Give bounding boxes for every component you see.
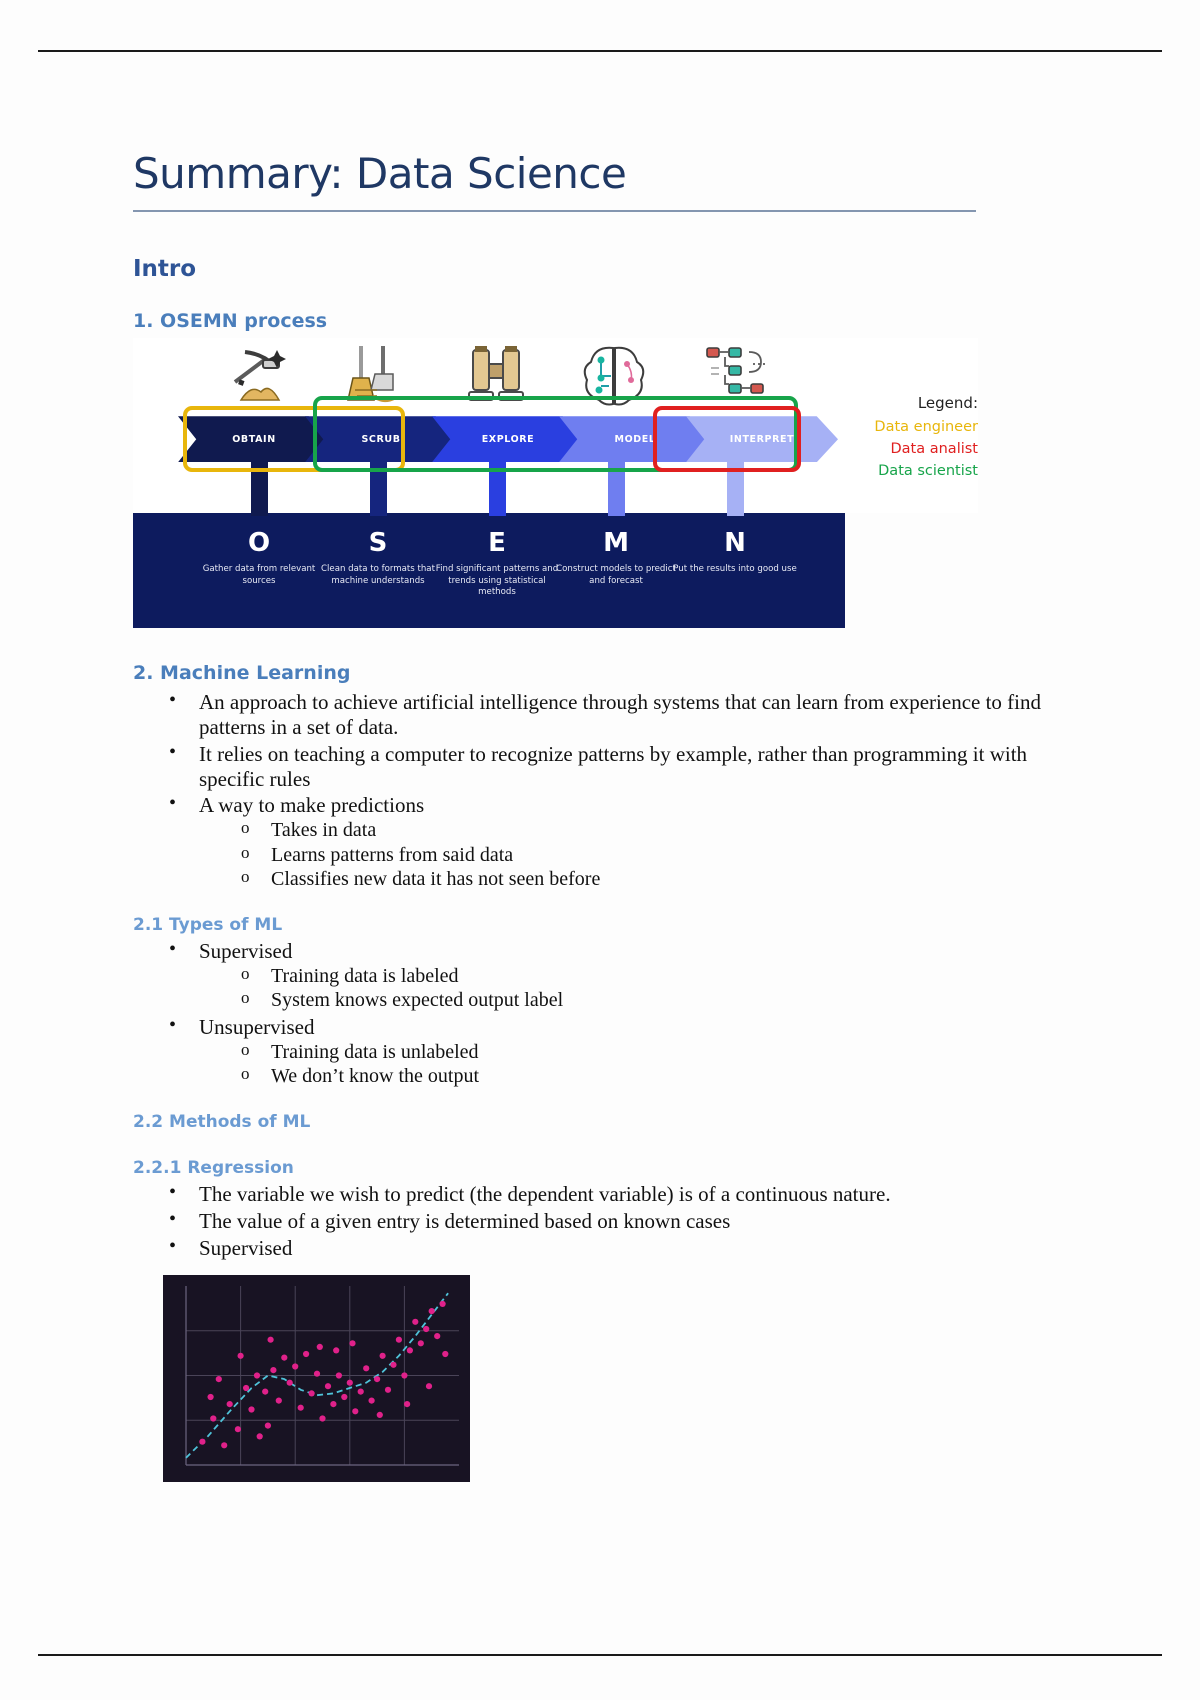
regression-bullets: The variable we wish to predict (the dep…	[133, 1182, 1063, 1260]
document-content: Summary: Data Science Intro 1. OSEMN pro…	[133, 150, 1063, 1482]
bullet-text: Unsupervised	[199, 1015, 314, 1039]
page-title: Summary: Data Science	[133, 150, 1063, 198]
types-of-ml-bullets: Supervised Training data is labeled Syst…	[133, 939, 1063, 1088]
sub-bullet-text: Takes in data	[271, 819, 376, 841]
list-item: It relies on teaching a computer to reco…	[163, 742, 1063, 792]
caption-obtain: Gather data from relevant sources	[197, 564, 321, 587]
title-divider	[133, 210, 976, 212]
sub-bullets: Training data is labeled System knows ex…	[199, 964, 1063, 1013]
heading-machine-learning: 2. Machine Learning	[133, 662, 1063, 684]
footer-divider	[38, 1654, 1162, 1656]
sub-bullets: Training data is unlabeled We don’t know…	[199, 1040, 1063, 1089]
osemn-letter-row: O S E M N	[133, 528, 845, 560]
pickaxe-mining-icon	[215, 342, 305, 410]
list-item: Supervised Training data is labeled Syst…	[163, 939, 1063, 1013]
bullet-text: It relies on teaching a computer to reco…	[199, 742, 1027, 791]
heading-types-of-ml: 2.1 Types of ML	[133, 915, 1063, 935]
letter-s: S	[318, 528, 438, 558]
sub-bullet-text: Classifies new data it has not seen befo…	[271, 868, 600, 890]
legend-item-data-engineer: Data engineer	[868, 419, 978, 435]
sub-bullets: Takes in data Learns patterns from said …	[199, 818, 1063, 891]
list-item: An approach to achieve artificial intell…	[163, 690, 1063, 740]
header-divider	[38, 50, 1162, 52]
heading-osemn-process: 1. OSEMN process	[133, 310, 1063, 332]
sub-bullet-text: We don’t know the output	[271, 1065, 479, 1087]
diagram-legend: Legend: Data engineer Data analist Data …	[868, 394, 978, 485]
list-item: Learns patterns from said data	[235, 843, 1063, 867]
letter-m: M	[556, 528, 676, 558]
caption-model: Construct models to predict and forecast	[554, 564, 678, 587]
legend-item-data-analist: Data analist	[868, 441, 978, 457]
document-page: Summary: Data Science Intro 1. OSEMN pro…	[0, 0, 1200, 1700]
list-item: We don’t know the output	[235, 1064, 1063, 1088]
sub-bullet-text: Training data is unlabeled	[271, 1041, 479, 1063]
letter-n: N	[675, 528, 795, 558]
caption-scrub: Clean data to formats that machine under…	[316, 564, 440, 587]
list-item: Training data is labeled	[235, 964, 1063, 988]
osemn-caption-row: Gather data from relevant sources Clean …	[133, 564, 845, 620]
caption-interpret: Put the results into good use	[673, 564, 797, 575]
list-item: The variable we wish to predict (the dep…	[163, 1182, 1063, 1207]
list-item: The value of a given entry is determined…	[163, 1209, 1063, 1234]
legend-title: Legend:	[868, 394, 978, 412]
highlight-data-analist	[653, 406, 801, 472]
sub-bullet-text: Training data is labeled	[271, 965, 459, 987]
bullet-text: The value of a given entry is determined…	[199, 1209, 730, 1233]
list-item: Training data is unlabeled	[235, 1040, 1063, 1064]
list-item: System knows expected output label	[235, 988, 1063, 1012]
heading-methods-of-ml: 2.2 Methods of ML	[133, 1112, 1063, 1132]
regression-scatter-plot	[163, 1275, 470, 1482]
bullet-text: A way to make predictions	[199, 793, 424, 817]
legend-item-data-scientist: Data scientist	[868, 463, 978, 479]
bullet-text: The variable we wish to predict (the dep…	[199, 1182, 891, 1206]
list-item: Supervised	[163, 1236, 1063, 1261]
list-item: Classifies new data it has not seen befo…	[235, 867, 1063, 891]
machine-learning-bullets: An approach to achieve artificial intell…	[133, 690, 1063, 891]
letter-o: O	[199, 528, 319, 558]
scatter-svg	[164, 1276, 469, 1481]
sub-bullet-text: System knows expected output label	[271, 989, 563, 1011]
sub-bullet-text: Learns patterns from said data	[271, 844, 513, 866]
bullet-text: An approach to achieve artificial intell…	[199, 690, 1041, 739]
bullet-text: Supervised	[199, 939, 292, 963]
list-item: Takes in data	[235, 818, 1063, 842]
bullet-text: Supervised	[199, 1236, 292, 1260]
list-item: Unsupervised Training data is unlabeled …	[163, 1015, 1063, 1089]
caption-explore: Find significant patterns and trends usi…	[435, 564, 559, 598]
heading-regression: 2.2.1 Regression	[133, 1158, 1063, 1178]
osemn-diagram: OBTAIN SCRUB EXPLORE MODEL INTERPRET	[133, 338, 978, 628]
list-item: A way to make predictions Takes in data …	[163, 793, 1063, 891]
section-heading-intro: Intro	[133, 256, 1063, 282]
letter-e: E	[437, 528, 557, 558]
